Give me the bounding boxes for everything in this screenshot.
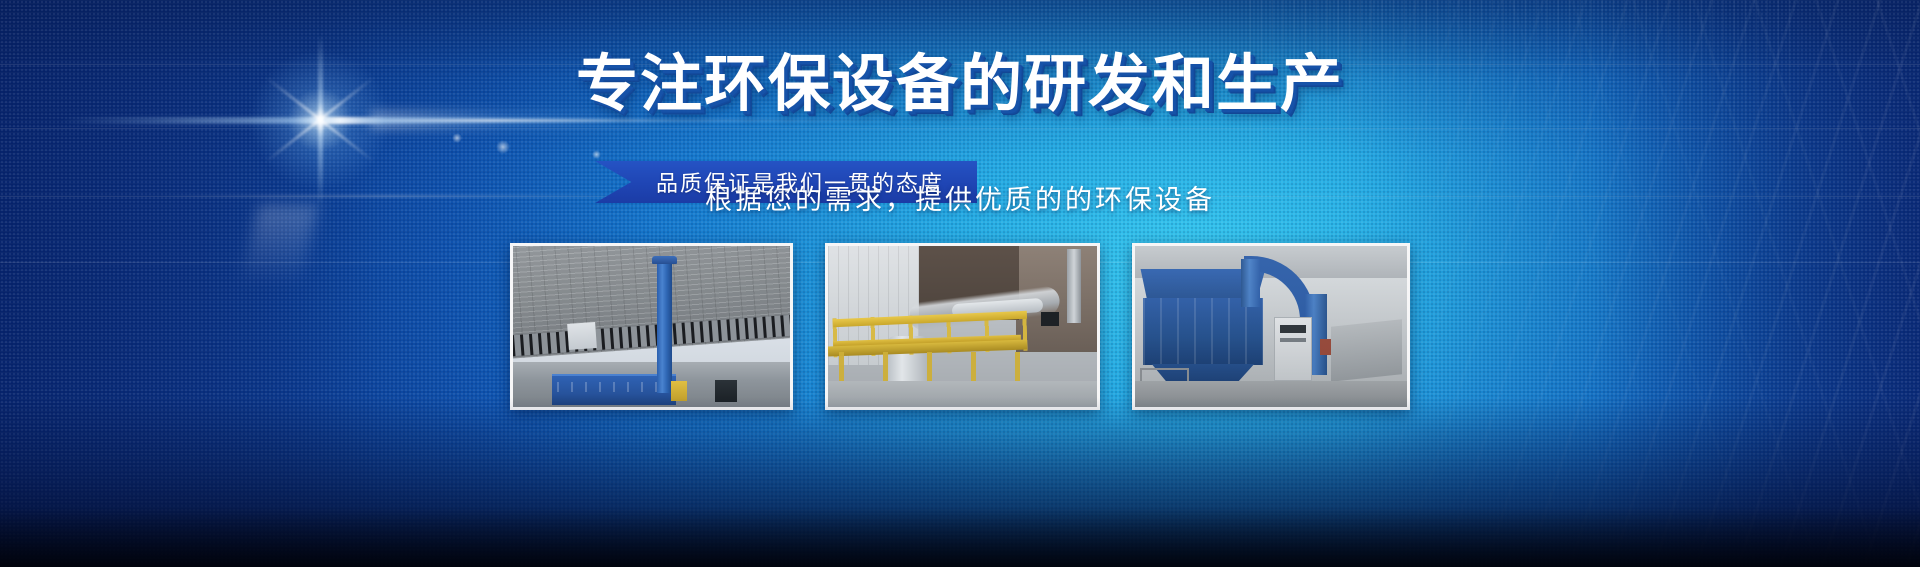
photo-warehouse-exhaust-stack[interactable]: [510, 243, 793, 410]
photo-3-image: [1135, 246, 1407, 407]
bottom-edge-vignette: [0, 507, 1920, 567]
page-title: 专注环保设备的研发和生产: [0, 52, 1920, 117]
photo-gallery: [0, 243, 1920, 410]
photo-blue-dust-collector[interactable]: [1132, 243, 1410, 410]
tagline: 根据您的需求，提供优质的的环保设备: [0, 178, 1920, 217]
hero-banner: 专注环保设备的研发和生产 品质保证是我们一贯的态度 根据您的需求，提供优质的的环…: [0, 0, 1920, 567]
photo-1-image: [513, 246, 790, 407]
photo-plant-yellow-railing[interactable]: [825, 243, 1100, 410]
photo-2-image: [828, 246, 1097, 407]
